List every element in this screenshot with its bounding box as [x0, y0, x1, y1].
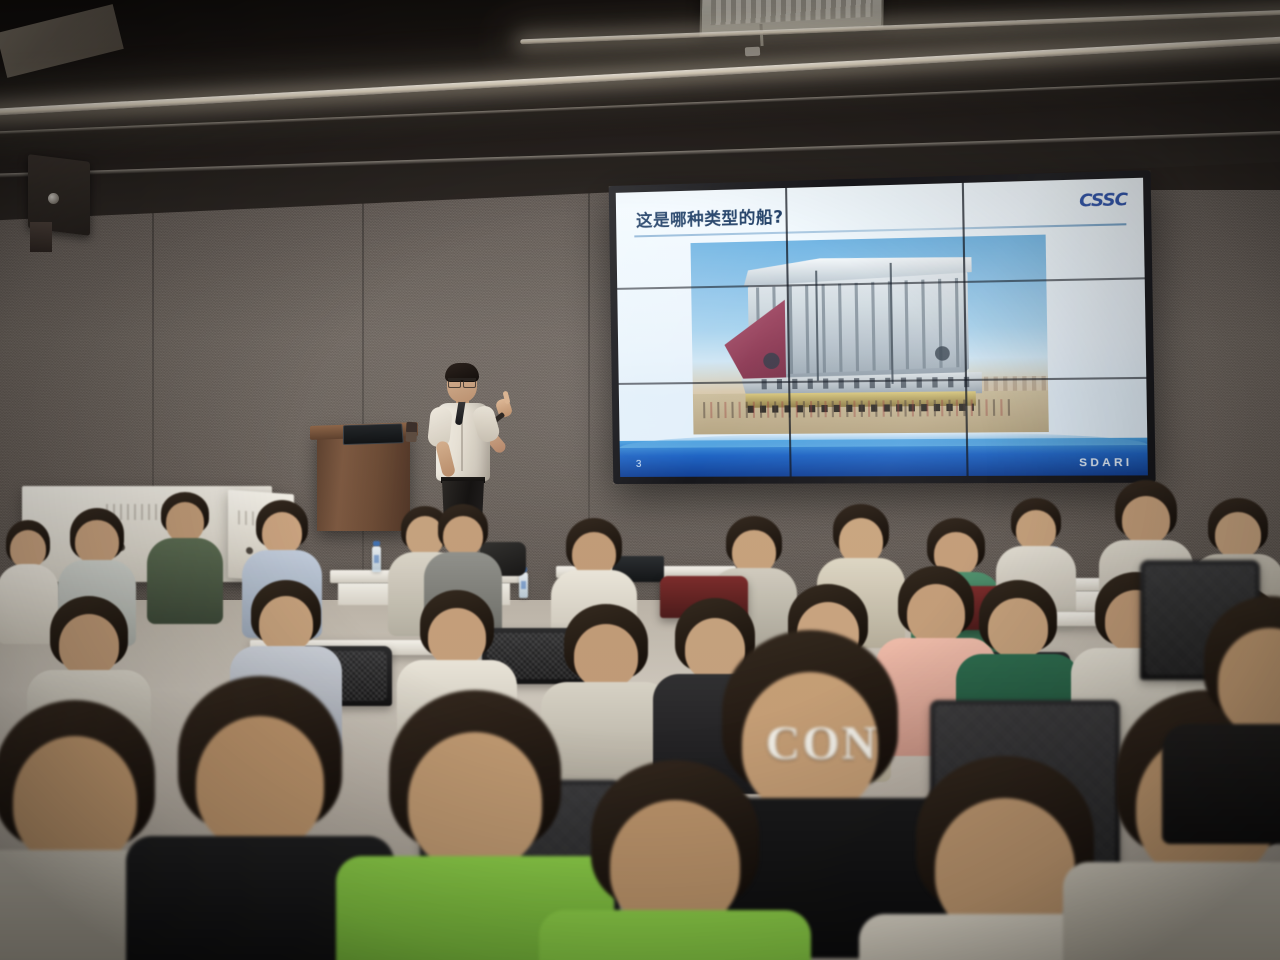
slide-title: 这是哪种类型的船?	[636, 203, 784, 231]
audience-person	[560, 760, 790, 960]
video-wall[interactable]: 这是哪种类型的船? CSSC	[609, 170, 1156, 484]
ship-hull-block	[717, 251, 986, 400]
audience-person	[150, 492, 220, 620]
hull-frames	[756, 278, 961, 375]
smoke-sensor-icon	[745, 47, 760, 57]
speaker-grille-icon	[48, 193, 59, 204]
water-bottle	[372, 546, 381, 572]
sdari-brand: SDARI	[1079, 457, 1133, 470]
glasses-icon	[448, 378, 476, 387]
presentation-slide: 这是哪种类型的船? CSSC	[616, 178, 1148, 477]
audience-person	[1180, 596, 1280, 816]
wall-mount-bracket	[30, 222, 52, 252]
shipyard-crowd	[703, 399, 1014, 418]
water-bottle	[519, 572, 528, 598]
hull-port-hole	[763, 353, 780, 369]
slide-photo	[691, 235, 1049, 435]
podium-laptop[interactable]	[343, 423, 404, 445]
slide-footer: 3 SDARI	[620, 438, 1148, 477]
pen-holder	[405, 422, 417, 443]
ceiling	[0, 0, 1280, 190]
video-wall-screen[interactable]: 这是哪种类型的船? CSSC	[616, 178, 1148, 477]
hull-port-hole	[935, 346, 950, 361]
slide-page-number: 3	[636, 459, 642, 470]
cssc-logo: CSSC	[1079, 190, 1127, 212]
bottle-cap	[373, 541, 380, 546]
lecture-hall-photo: 这是哪种类型的船? CSSC	[0, 0, 1280, 960]
